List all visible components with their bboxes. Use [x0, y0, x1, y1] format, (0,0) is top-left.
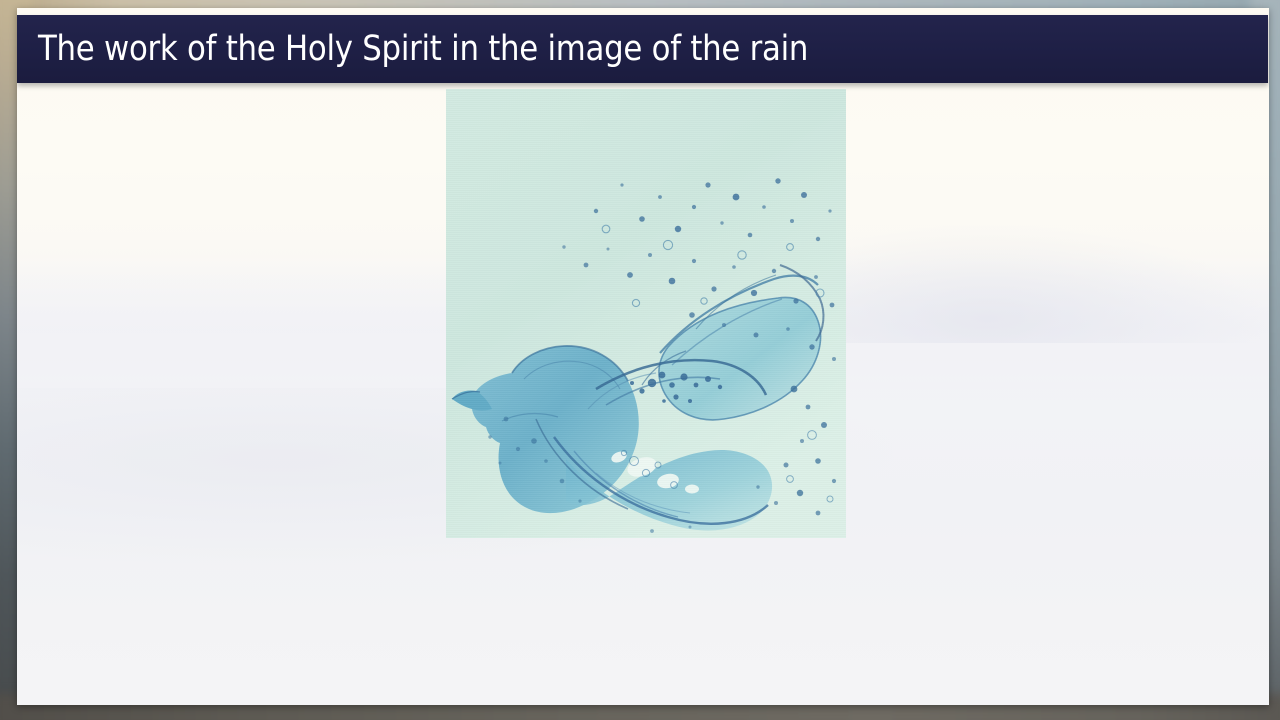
- presentation-slide: The work of the Holy Spirit in the image…: [17, 8, 1269, 705]
- water-splash-dove-image: [446, 89, 846, 538]
- slide-title: The work of the Holy Spirit in the image…: [38, 32, 808, 67]
- slide-title-bar: The work of the Holy Spirit in the image…: [17, 15, 1268, 83]
- screenshot-viewport: The work of the Holy Spirit in the image…: [0, 0, 1280, 720]
